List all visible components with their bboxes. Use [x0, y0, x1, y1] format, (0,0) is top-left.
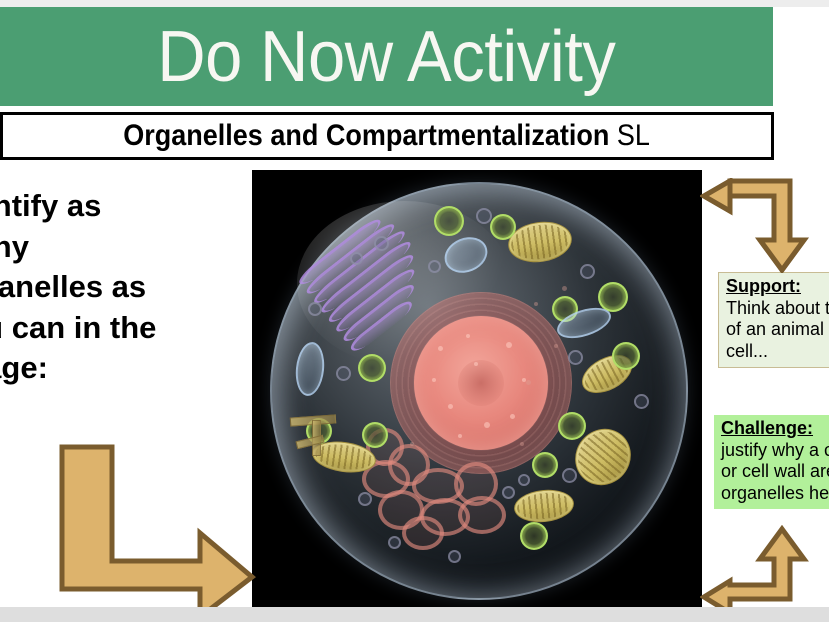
- bottom-strip: [0, 607, 829, 622]
- vesicle: [350, 252, 363, 265]
- cell-diagram: [262, 174, 692, 604]
- subtitle-bold: Organelles and Compartmentalization: [124, 119, 610, 152]
- challenge-line-3: organelles here...: [721, 483, 829, 505]
- instruction-text: Identify as many organelles as you can i…: [0, 186, 248, 389]
- support-box: Support: Think about the parts of an ani…: [718, 272, 829, 368]
- vesicle: [308, 302, 322, 316]
- lysosome: [612, 342, 640, 370]
- title-banner: Do Now Activity: [0, 7, 773, 106]
- lysosome: [362, 422, 388, 448]
- subtitle-box: Organelles and Compartmentalization SL: [0, 112, 774, 160]
- bent-arrow-left-down-icon: [700, 178, 829, 273]
- bent-arrow-right-icon: [58, 443, 256, 621]
- lysosome: [434, 206, 464, 236]
- endoplasmic-reticulum: [358, 442, 508, 547]
- lysosome: [532, 452, 558, 478]
- challenge-line-1: justify why a chloroplast: [721, 440, 829, 462]
- support-line-3: cell...: [726, 341, 829, 363]
- vesicle: [476, 208, 492, 224]
- vesicle: [336, 366, 351, 381]
- instruction-line-2: many: [0, 227, 248, 268]
- vesicle: [580, 264, 595, 279]
- challenge-box: Challenge: justify why a chloroplast or …: [714, 415, 829, 509]
- vesicle: [502, 486, 515, 499]
- vesicle: [634, 394, 649, 409]
- vesicle: [518, 474, 530, 486]
- instruction-line-5: image:: [0, 348, 248, 389]
- support-line-1: Think about the parts: [726, 298, 829, 320]
- bent-arrow-up-left-icon: [700, 525, 829, 615]
- vesicle: [448, 550, 461, 563]
- support-line-2: of an animal: [726, 319, 829, 341]
- nucleolus: [458, 360, 504, 406]
- lysosome: [358, 354, 386, 382]
- challenge-heading: Challenge:: [721, 418, 829, 440]
- vesicle: [358, 492, 372, 506]
- support-heading: Support:: [726, 276, 829, 298]
- centriole: [290, 412, 346, 456]
- vesicle: [388, 536, 401, 549]
- top-strip: [0, 0, 829, 7]
- subtitle-level: SL: [610, 119, 651, 152]
- slide-canvas: Do Now Activity Organelles and Compartme…: [0, 0, 829, 622]
- vesicle: [562, 468, 577, 483]
- vesicle: [428, 260, 441, 273]
- lysosome: [558, 412, 586, 440]
- challenge-line-2: or cell wall are not: [721, 461, 829, 483]
- animal-cell-image: [252, 170, 702, 608]
- vesicle: [568, 350, 583, 365]
- instruction-line-3: organelles as: [0, 267, 248, 308]
- lysosome: [520, 522, 548, 550]
- instruction-line-4: you can in the: [0, 308, 248, 349]
- instruction-line-1: Identify as: [0, 186, 248, 227]
- lysosome: [490, 214, 516, 240]
- vesicle: [374, 236, 389, 251]
- page-title: Do Now Activity: [157, 21, 615, 93]
- subtitle-text: Organelles and Compartmentalization SL: [124, 119, 651, 153]
